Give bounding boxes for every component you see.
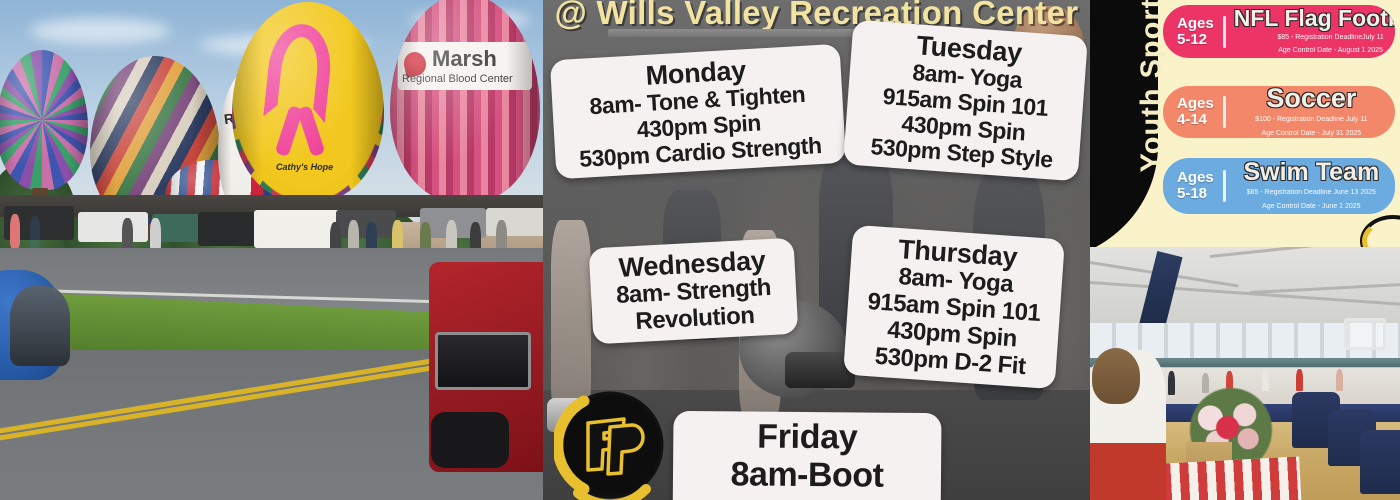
schedule-title: @ Wills Valley Recreation Center [543, 0, 1090, 32]
person [150, 218, 161, 252]
balloon-festival-photo: RE Cathy's Hope Marsh Regional Blood Cen… [0, 0, 543, 500]
truck-wheel [431, 412, 509, 468]
marsh-droplet-icon [402, 50, 429, 78]
chair [1360, 430, 1400, 494]
ages-label: Ages [1177, 16, 1214, 32]
hair [1092, 348, 1140, 404]
ribbon-tail [297, 105, 326, 157]
program-badge-swim-team[interactable]: Ages 5-18 Swim Team $85 - Registration D… [1163, 158, 1395, 214]
ages-label: Ages [1177, 170, 1214, 186]
program-body: Soccer $100 - Registration Deadline July… [1226, 86, 1395, 138]
person [1296, 369, 1303, 391]
program-price-deadline: $100 - Registration Deadline July 11 [1234, 115, 1389, 125]
ages-label: Ages [1177, 96, 1214, 112]
program-badge-soccer[interactable]: Ages 4-14 Soccer $100 - Registration Dea… [1163, 86, 1395, 138]
person [1336, 369, 1343, 391]
ages-range: 5-18 [1177, 186, 1214, 202]
program-title: Soccer [1234, 86, 1389, 112]
red-pickup-truck [429, 262, 543, 472]
marsh-subtitle: Regional Blood Center [402, 73, 513, 85]
program-age-control-date: Age Control Date - June 1 2025 [1234, 202, 1389, 212]
schedule-card-wednesday: Wednesday 8am- Strength Revolution [589, 238, 799, 345]
card-day-label: Friday [685, 417, 929, 457]
ages-range: 4-14 [1177, 112, 1214, 128]
vehicle [486, 208, 543, 236]
schedule-card-monday: Monday 8am- Tone & Tighten 430pm Spin 53… [550, 44, 846, 180]
program-title: NFL Flag Football [1234, 7, 1395, 30]
program-price-deadline: $85 - Registration Deadline June 13 2025 [1234, 188, 1389, 198]
person [10, 214, 20, 248]
program-age-control-date: Age Control Date - August 1 2025 [1234, 46, 1395, 56]
indoor-gymnasium-photo [1090, 247, 1400, 500]
program-price-deadline: $85 - Registration DeadlineJuly 11 [1234, 33, 1395, 43]
person [122, 218, 133, 252]
fp-logo [554, 389, 666, 500]
fp-logo-svg [554, 389, 666, 500]
balloon-marsh-blood-center: Marsh Regional Blood Center [390, 0, 540, 202]
person-bending [10, 286, 70, 366]
youth-sports-heading: Youth Sports [1136, 0, 1169, 187]
balloon-checkered-blue [0, 50, 88, 190]
balloon-cathys-hope: Cathy's Hope [232, 2, 384, 202]
schedule-card-thursday: Thursday 8am- Yoga 915am Spin 101 430pm … [843, 225, 1065, 389]
ages-range: 5-12 [1177, 32, 1214, 48]
vehicle [254, 210, 340, 248]
schedule-card-tuesday: Tuesday 8am- Yoga 915am Spin 101 430pm S… [843, 20, 1088, 182]
program-body: NFL Flag Football $85 - Registration Dea… [1226, 7, 1395, 56]
ages-block: Ages 5-18 [1163, 170, 1223, 202]
ribbon-tail [275, 105, 304, 157]
ages-block: Ages 4-14 [1163, 96, 1223, 128]
collage-root: RE Cathy's Hope Marsh Regional Blood Cen… [0, 0, 1400, 500]
vehicle [78, 212, 148, 242]
marsh-logo-plate: Marsh Regional Blood Center [398, 42, 532, 90]
program-badge-nfl-flag-football[interactable]: Ages 5-12 NFL Flag Football $85 - Regist… [1163, 5, 1395, 58]
pink-ribbon-icon [263, 21, 335, 123]
cloud [30, 18, 170, 44]
program-body: Swim Team $85 - Registration Deadline Ju… [1226, 160, 1395, 211]
basketball-hoop [1344, 318, 1386, 350]
truck-grille [435, 332, 531, 390]
ages-block: Ages 5-12 [1163, 16, 1223, 48]
schedule-card-friday: Friday 8am-Boot Camp [672, 411, 941, 500]
youth-sports-and-gym-panel: Youth Sports Ages 5-12 NFL Flag Football… [1090, 0, 1400, 500]
program-age-control-date: Age Control Date - July 31 2025 [1234, 129, 1389, 139]
person [30, 216, 40, 248]
card-line: 8am-Boot Camp [685, 455, 930, 500]
marsh-wordmark: Marsh [432, 46, 497, 72]
youth-sports-card: Youth Sports Ages 5-12 NFL Flag Football… [1090, 0, 1400, 247]
person [1168, 371, 1175, 395]
program-title: Swim Team [1234, 160, 1389, 185]
cathys-hope-label: Cathy's Hope [276, 162, 384, 172]
